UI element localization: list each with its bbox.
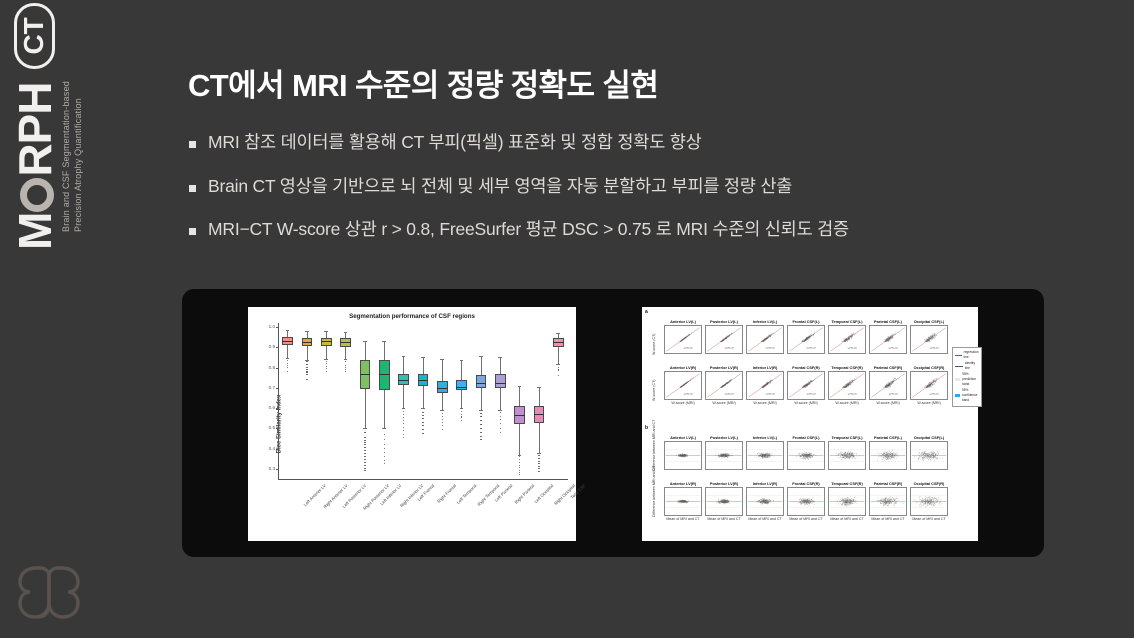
- boxplot-outlier: [519, 470, 520, 471]
- boxplot-whisker-cap: [440, 359, 444, 360]
- svg-text:y=0.98x+0.01: y=0.98x+0.01: [930, 393, 939, 395]
- boxplot-outlier: [519, 462, 520, 463]
- svg-text:y=0.98x+0.01: y=0.98x+0.01: [807, 393, 816, 395]
- boxplot-outlier: [364, 453, 365, 454]
- boxplot-box: [456, 380, 467, 391]
- boxplot-y-tickmark: [276, 408, 279, 409]
- boxplot-median: [360, 374, 371, 375]
- boxplot-outlier: [442, 413, 443, 414]
- boxplot-outlier: [384, 448, 385, 449]
- boxplot-box: [495, 374, 506, 388]
- scatter-plot-area: [869, 441, 907, 470]
- boxplot-outlier: [500, 432, 501, 433]
- scatter-panel: Frontal CSF(R)y=0.98x+0.01W-score (MRI): [787, 365, 825, 406]
- boxplot-outlier: [364, 459, 365, 460]
- scatter-y-axis-label: W-score (CT): [652, 380, 656, 402]
- scatter-y-axis-label: Difference between MRI and CT: [652, 466, 656, 517]
- panel-label-b: b: [645, 425, 648, 431]
- boxplot-outlier: [287, 360, 288, 361]
- boxplot-outlier: [519, 465, 520, 466]
- scatter-panel: Anterior LV(R)y=0.98x+0.01W-score (MRI): [664, 365, 702, 406]
- boxplot-x-axis-labels: Left Anterior LVRight Anterior LVLeft Po…: [278, 481, 568, 537]
- svg-text:y=0.98x+0.01: y=0.98x+0.01: [766, 347, 775, 349]
- legend-label: regression line: [964, 350, 979, 360]
- brand-word-morph: M RPH: [12, 83, 58, 250]
- scatter-y-axis-label: W-score (CT): [652, 334, 656, 356]
- boxplot-median: [379, 374, 390, 375]
- boxplot-outlier: [364, 468, 365, 469]
- boxplot-whisker-cap: [498, 410, 502, 411]
- boxplot-outlier: [422, 429, 423, 430]
- scatter-x-axis-label: W-score (MRI): [746, 400, 784, 406]
- boxplot-whisker-cap: [324, 331, 328, 332]
- boxplot-outlier: [480, 413, 481, 414]
- boxplot-y-tickmark: [276, 368, 279, 369]
- scatter-x-axis-label: W-score (MRI): [787, 400, 825, 406]
- boxplot-outlier: [538, 458, 539, 459]
- boxplot-outlier: [364, 447, 365, 448]
- scatter-panel: Occipital CSF(R)Mean of MRI and CT: [910, 481, 948, 522]
- boxplot-outlier: [345, 361, 346, 362]
- scatter-panel: Frontal CSF(R)Mean of MRI and CT: [787, 481, 825, 522]
- scatter-panel: Anterior LV(L)y=0.98x+0.01: [664, 319, 702, 354]
- scatter-x-axis-label: W-score (MRI): [705, 400, 743, 406]
- boxplot-outlier: [287, 365, 288, 366]
- svg-text:y=0.98x+0.01: y=0.98x+0.01: [725, 393, 734, 395]
- scatter-plot-area: [705, 441, 743, 470]
- boxplot-outlier: [306, 364, 307, 365]
- boxplot-whisker-cap: [440, 410, 444, 411]
- boxplot-whisker-cap: [324, 359, 328, 360]
- svg-text:y=0.98x+0.01: y=0.98x+0.01: [766, 393, 775, 395]
- boxplot-outlier: [480, 439, 481, 440]
- boxplot-outlier: [442, 419, 443, 420]
- boxplot-outlier: [384, 439, 385, 440]
- brand-badge-ct: CT: [14, 3, 55, 68]
- brand-letters-rph: RPH: [12, 83, 58, 177]
- boxplot-y-tick: 0.9: [261, 344, 275, 349]
- bullet-square-icon: [189, 185, 196, 192]
- scatter-x-axis-label: Mean of MRI and CT: [828, 516, 866, 522]
- list-item: MRI−CT W-score 상관 r > 0.8, FreeSurfer 평균…: [189, 218, 1049, 242]
- boxplot-x-tick-label: Right Parietal: [514, 483, 536, 505]
- boxplot-median: [282, 341, 293, 342]
- boxplot-outlier: [364, 444, 365, 445]
- boxplot-outlier: [422, 422, 423, 423]
- boxplot-outlier: [519, 456, 520, 457]
- boxplot-outlier: [403, 420, 404, 421]
- bullet-square-icon: [189, 141, 196, 148]
- legend-item: regression line: [955, 350, 979, 360]
- svg-text:y=0.98x+0.01: y=0.98x+0.01: [889, 347, 898, 349]
- svg-text:y=0.98x+0.01: y=0.98x+0.01: [889, 393, 898, 395]
- scatter-plot-area: y=0.98x+0.01: [828, 325, 866, 354]
- legend-swatch-confidence: [955, 394, 960, 397]
- boxplot-outlier: [306, 369, 307, 370]
- legend-label: 95% prediction band: [962, 372, 979, 387]
- boxplot-title: Segmentation performance of CSF regions: [248, 313, 576, 320]
- brand-o-ring-icon: [20, 178, 54, 212]
- scatter-plot-area: [746, 487, 784, 516]
- legend-label: identity line: [965, 361, 979, 371]
- boxplot-y-tickmark: [276, 428, 279, 429]
- boxplot-outlier: [500, 416, 501, 417]
- boxplot-outlier: [480, 432, 481, 433]
- boxplot-outlier: [326, 363, 327, 364]
- boxplot-median: [398, 380, 409, 381]
- bullet-text: Brain CT 영상을 기반으로 뇌 전체 및 세부 영역을 자동 분할하고 …: [208, 175, 792, 199]
- boxplot-median: [534, 414, 545, 415]
- scatter-panel: Anterior LV(L): [664, 435, 702, 470]
- boxplot-median: [418, 380, 429, 381]
- boxplot-outlier: [345, 369, 346, 370]
- brand-tagline-line2: Precision Atrophy Quantification: [72, 81, 84, 232]
- scatter-grid-row: Anterior LV(L)y=0.98x+0.01Posterior LV(L…: [664, 319, 948, 354]
- scatter-panel: Parietal CSF(L)y=0.98x+0.01: [869, 319, 907, 354]
- boxplot-outlier: [538, 468, 539, 469]
- boxplot-box: [360, 360, 371, 390]
- scatter-plot-area: y=0.98x+0.01: [869, 371, 907, 400]
- boxplot-x-tick-label: Left Occipital: [533, 483, 554, 504]
- scatter-panel: Temporal CSF(L)y=0.98x+0.01: [828, 319, 866, 354]
- svg-text:y=0.98x+0.01: y=0.98x+0.01: [725, 347, 734, 349]
- boxplot-outlier: [442, 425, 443, 426]
- boxplot-outlier: [403, 434, 404, 435]
- boxplot-median: [553, 342, 564, 343]
- scatter-plot-area: y=0.98x+0.01: [787, 371, 825, 400]
- boxplot-outlier: [500, 423, 501, 424]
- boxplot-whisker-cap: [363, 428, 367, 429]
- boxplot-whisker-cap: [421, 357, 425, 358]
- boxplot-outlier: [519, 474, 520, 475]
- boxplot-x-axis: [278, 479, 568, 480]
- scatter-plot-area: y=0.98x+0.01: [664, 325, 702, 354]
- svg-text:y=0.98x+0.01: y=0.98x+0.01: [684, 347, 693, 349]
- boxplot-outlier: [306, 374, 307, 375]
- scatter-panel: Temporal CSF(R)y=0.98x+0.01W-score (MRI): [828, 365, 866, 406]
- boxplot-outlier: [364, 432, 365, 433]
- scatter-plot-area: [828, 441, 866, 470]
- boxplot-outlier: [538, 471, 539, 472]
- boxplot-outlier: [558, 369, 559, 370]
- boxplot-outlier: [384, 434, 385, 435]
- boxplot-outlier: [538, 461, 539, 462]
- boxplot-outlier: [306, 379, 307, 380]
- brand-logo: M RPH CT Brain and CSF Segmentation-base…: [0, 0, 120, 330]
- boxplot-outlier: [345, 367, 346, 368]
- boxplot-box: [437, 381, 448, 392]
- boxplot-outlier: [364, 442, 365, 443]
- list-item: MRI 참조 데이터를 활용해 CT 부피(픽셀) 표준화 및 정합 정확도 향…: [189, 131, 1049, 155]
- boxplot-outlier: [306, 367, 307, 368]
- boxplot-whisker-cap: [518, 386, 522, 387]
- scatter-plot-area: [828, 487, 866, 516]
- scatter-panel: Anterior LV(R)Mean of MRI and CT: [664, 481, 702, 522]
- scatter-panel: Parietal CSF(R)y=0.98x+0.01W-score (MRI): [869, 365, 907, 406]
- boxplot-y-tickmark: [276, 327, 279, 328]
- boxplot-median: [476, 383, 487, 384]
- boxplot-median: [514, 415, 525, 416]
- boxplot-outlier: [558, 375, 559, 376]
- scatter-plot-area: y=0.98x+0.01: [787, 325, 825, 354]
- scatter-x-axis-label: W-score (MRI): [828, 400, 866, 406]
- scatter-grid-row: Anterior LV(L)Posterior LV(L)Inferior LV…: [664, 435, 948, 470]
- scatter-plot-area: y=0.98x+0.01: [746, 325, 784, 354]
- scatter-panel: Occipital CSF(L)y=0.98x+0.01: [910, 319, 948, 354]
- legend-swatch-prediction: [955, 378, 960, 381]
- boxplot-outlier: [345, 365, 346, 366]
- scatter-plot-area: [910, 441, 948, 470]
- boxplot-outlier: [538, 463, 539, 464]
- boxplot-y-tick: 0.6: [261, 405, 275, 410]
- scatter-panel: Posterior LV(L): [705, 435, 743, 470]
- svg-text:y=0.98x+0.01: y=0.98x+0.01: [930, 347, 939, 349]
- scatter-y-axis-label: Difference between MRI and CT: [652, 420, 656, 471]
- scatter-plot-area: y=0.98x+0.01: [705, 371, 743, 400]
- boxplot-whisker-cap: [556, 364, 560, 365]
- boxplot-whisker-cap: [363, 341, 367, 342]
- scatter-grid-row: Anterior LV(R)y=0.98x+0.01W-score (MRI)P…: [664, 365, 948, 406]
- boxplot-outlier: [326, 371, 327, 372]
- scatter-panel: Inferior LV(R)y=0.98x+0.01W-score (MRI): [746, 365, 784, 406]
- svg-text:y=0.98x+0.01: y=0.98x+0.01: [848, 347, 857, 349]
- boxplot-outlier: [306, 361, 307, 362]
- boxplot-outlier: [384, 456, 385, 457]
- scatter-plot-area: y=0.98x+0.01: [910, 325, 948, 354]
- boxplot-outlier: [519, 459, 520, 460]
- scatter-x-axis-label: Mean of MRI and CT: [910, 516, 948, 522]
- brand-letter-m: M: [12, 213, 58, 250]
- multipanel-figure: aAnterior LV(L)y=0.98x+0.01Posterior LV(…: [642, 307, 978, 541]
- scatter-panel: Posterior LV(L)y=0.98x+0.01: [705, 319, 743, 354]
- boxplot-y-tick: 0.4: [261, 446, 275, 451]
- boxplot-whisker-cap: [402, 356, 406, 357]
- boxplot-outlier: [364, 462, 365, 463]
- boxplot-y-tick: 0.7: [261, 385, 275, 390]
- boxplot-median: [340, 342, 351, 343]
- boxplot-outlier: [287, 371, 288, 372]
- boxplot-outlier: [422, 415, 423, 416]
- scatter-x-axis-label: W-score (MRI): [869, 400, 907, 406]
- boxplot-outlier: [345, 371, 346, 372]
- boxplot-outlier: [442, 429, 443, 430]
- boxplot-outlier: [403, 414, 404, 415]
- boxplot-outlier: [403, 423, 404, 424]
- boxplot-outlier: [480, 420, 481, 421]
- boxplot-outlier: [422, 412, 423, 413]
- panel-label-a: a: [645, 309, 648, 315]
- boxplot-box: [379, 360, 390, 390]
- boxplot-outlier: [364, 465, 365, 466]
- boxplot-outlier: [364, 440, 365, 441]
- boxplot-box: [476, 375, 487, 388]
- boxplot-y-tickmark: [276, 449, 279, 450]
- list-item: Brain CT 영상을 기반으로 뇌 전체 및 세부 영역을 자동 분할하고 …: [189, 175, 1049, 199]
- scatter-x-axis-label: Mean of MRI and CT: [787, 516, 825, 522]
- boxplot-outlier: [403, 417, 404, 418]
- scatter-x-axis-label: W-score (MRI): [910, 400, 948, 406]
- bullet-list: MRI 참조 데이터를 활용해 CT 부피(픽셀) 표준화 및 정합 정확도 향…: [189, 131, 1049, 262]
- multipanel-root: aAnterior LV(L)y=0.98x+0.01Posterior LV(…: [642, 307, 978, 541]
- boxplot-outlier: [422, 433, 423, 434]
- legend-label: 95% confidence band: [962, 388, 979, 403]
- boxplot-median: [495, 383, 506, 384]
- scatter-plot-area: [705, 487, 743, 516]
- boxplot-outlier: [364, 470, 365, 471]
- scatter-panel: Frontal CSF(L)y=0.98x+0.01: [787, 319, 825, 354]
- scatter-grid-row: Anterior LV(R)Mean of MRI and CTPosterio…: [664, 481, 948, 522]
- scatter-plot-area: y=0.98x+0.01: [869, 325, 907, 354]
- brand-wordmark: M RPH CT: [12, 3, 58, 250]
- boxplot-outlier: [480, 428, 481, 429]
- svg-text:y=0.98x+0.01: y=0.98x+0.01: [684, 393, 693, 395]
- page-title: CT에서 MRI 수준의 정량 정확도 실현: [188, 60, 658, 105]
- scatter-plot-area: [664, 441, 702, 470]
- boxplot-whisker-cap: [402, 408, 406, 409]
- scatter-panel: Frontal CSF(L): [787, 435, 825, 470]
- boxplot-median: [437, 388, 448, 389]
- boxplot-outlier: [500, 419, 501, 420]
- boxplot-outlier: [442, 416, 443, 417]
- boxplot-x-tick-label: Left Temporal: [456, 483, 478, 505]
- boxplot-outlier: [538, 466, 539, 467]
- bullet-text: MRI 참조 데이터를 활용해 CT 부피(픽셀) 표준화 및 정합 정확도 향…: [208, 131, 702, 155]
- scatter-plot-area: y=0.98x+0.01: [746, 371, 784, 400]
- boxplot-outlier: [538, 455, 539, 456]
- scatter-x-axis-label: W-score (MRI): [664, 400, 702, 406]
- legend-item: 95% prediction band: [955, 372, 979, 387]
- boxplot-outlier: [422, 425, 423, 426]
- boxplot-whisker-cap: [344, 332, 348, 333]
- boxplot-whisker-cap: [537, 453, 541, 454]
- boxplot-whisker-cap: [382, 428, 386, 429]
- boxplot-outlier: [287, 363, 288, 364]
- scatter-x-axis-label: Mean of MRI and CT: [664, 516, 702, 522]
- boxplot-y-tick: 1.0: [261, 324, 275, 329]
- boxplot-median: [456, 387, 467, 388]
- boxplot-whisker-cap: [421, 408, 425, 409]
- boxplot-y-tickmark: [276, 388, 279, 389]
- scatter-plot-area: [787, 487, 825, 516]
- scatter-x-axis-label: Mean of MRI and CT: [705, 516, 743, 522]
- boxplot-outlier: [326, 366, 327, 367]
- boxplot-outlier: [519, 467, 520, 468]
- boxplot-y-tickmark: [276, 469, 279, 470]
- scatter-panel: Parietal CSF(R)Mean of MRI and CT: [869, 481, 907, 522]
- legend-item: identity line: [955, 361, 979, 371]
- boxplot-y-tickmark: [276, 347, 279, 348]
- svg-text:y=0.98x+0.01: y=0.98x+0.01: [848, 393, 857, 395]
- boxplot-median: [321, 341, 332, 342]
- boxplot-outlier: [384, 444, 385, 445]
- scatter-plot-area: y=0.98x+0.01: [828, 371, 866, 400]
- boxplot-whisker-cap: [382, 341, 386, 342]
- boxplot-whisker-cap: [479, 410, 483, 411]
- brand-tagline-line1: Brain and CSF Segmentation-based: [60, 81, 72, 232]
- boxplot-y-axis: [278, 323, 279, 479]
- boxplot-outlier: [403, 411, 404, 412]
- scatter-plot-area: [869, 487, 907, 516]
- slide-root: M RPH CT Brain and CSF Segmentation-base…: [0, 0, 1134, 638]
- scatter-panel: Temporal CSF(R)Mean of MRI and CT: [828, 481, 866, 522]
- bullet-square-icon: [189, 228, 196, 235]
- scatter-panel: Parietal CSF(L): [869, 435, 907, 470]
- boxplot-outlier: [422, 418, 423, 419]
- boxplot-whisker-cap: [460, 408, 464, 409]
- scatter-panel: Posterior LV(R)Mean of MRI and CT: [705, 481, 743, 522]
- boxplot-whisker-cap: [344, 359, 348, 360]
- boxplot-figure: Segmentation performance of CSF regions …: [248, 307, 576, 541]
- boxplot-outlier: [384, 452, 385, 453]
- boxplot-outlier: [326, 361, 327, 362]
- boxplot-y-tick: 0.3: [261, 466, 275, 471]
- scatter-x-axis-label: Mean of MRI and CT: [869, 516, 907, 522]
- boxplot-outlier: [364, 450, 365, 451]
- boxplot-outlier: [403, 427, 404, 428]
- legend-swatch-regression: [955, 355, 962, 356]
- svg-text:y=0.98x+0.01: y=0.98x+0.01: [807, 347, 816, 349]
- scatter-panel: Inferior LV(L): [746, 435, 784, 470]
- boxplot-outlier: [442, 422, 443, 423]
- scatter-panel: Posterior LV(R)y=0.98x+0.01W-score (MRI): [705, 365, 743, 406]
- boxplot-outlier: [480, 416, 481, 417]
- bb-butterfly-monogram-icon: [16, 556, 82, 622]
- boxplot-whisker-cap: [537, 387, 541, 388]
- scatter-panel: Inferior LV(L)y=0.98x+0.01: [746, 319, 784, 354]
- boxplot-outlier: [461, 420, 462, 421]
- scatter-legend: regression lineidentity line95% predicti…: [952, 347, 982, 407]
- scatter-plot-area: y=0.98x+0.01: [705, 325, 743, 354]
- brand-tagline: Brain and CSF Segmentation-based Precisi…: [60, 81, 84, 232]
- boxplot-y-tick: 0.8: [261, 365, 275, 370]
- boxplot-whisker-cap: [498, 357, 502, 358]
- boxplot-outlier: [364, 437, 365, 438]
- boxplot-outlier: [500, 428, 501, 429]
- scatter-panel: Inferior LV(R)Mean of MRI and CT: [746, 481, 784, 522]
- figure-panel: Segmentation performance of CSF regions …: [182, 289, 1044, 557]
- boxplot-outlier: [384, 463, 385, 464]
- boxplot-outlier: [480, 436, 481, 437]
- boxplot-outlier: [461, 414, 462, 415]
- scatter-plot-area: [746, 441, 784, 470]
- boxplot-outlier: [287, 367, 288, 368]
- boxplot-outlier: [558, 367, 559, 368]
- boxplot-outlier: [461, 416, 462, 417]
- boxplot-y-tick: 0.5: [261, 425, 275, 430]
- boxplot-x-tick-label: Right Frontal: [436, 483, 457, 504]
- boxplot-whisker-cap: [556, 333, 560, 334]
- boxplot-outlier: [500, 412, 501, 413]
- boxplot-whisker-cap: [460, 360, 464, 361]
- bullet-text: MRI−CT W-score 상관 r > 0.8, FreeSurfer 평균…: [208, 218, 849, 242]
- legend-item: 95% confidence band: [955, 388, 979, 403]
- scatter-plot-area: [910, 487, 948, 516]
- boxplot-outlier: [519, 472, 520, 473]
- boxplot-outlier: [364, 456, 365, 457]
- boxplot-outlier: [461, 411, 462, 412]
- scatter-plot-area: [664, 487, 702, 516]
- boxplot-outlier: [326, 368, 327, 369]
- boxplot-whisker-cap: [286, 330, 290, 331]
- boxplot-whisker-cap: [479, 356, 483, 357]
- boxplot-outlier: [384, 460, 385, 461]
- scatter-panel: Occipital CSF(L): [910, 435, 948, 470]
- boxplot-outlier: [480, 424, 481, 425]
- scatter-plot-area: y=0.98x+0.01: [664, 371, 702, 400]
- scatter-panel: Occipital CSF(R)y=0.98x+0.01W-score (MRI…: [910, 365, 948, 406]
- scatter-plot-area: y=0.98x+0.01: [910, 371, 948, 400]
- scatter-panel: Temporal CSF(L): [828, 435, 866, 470]
